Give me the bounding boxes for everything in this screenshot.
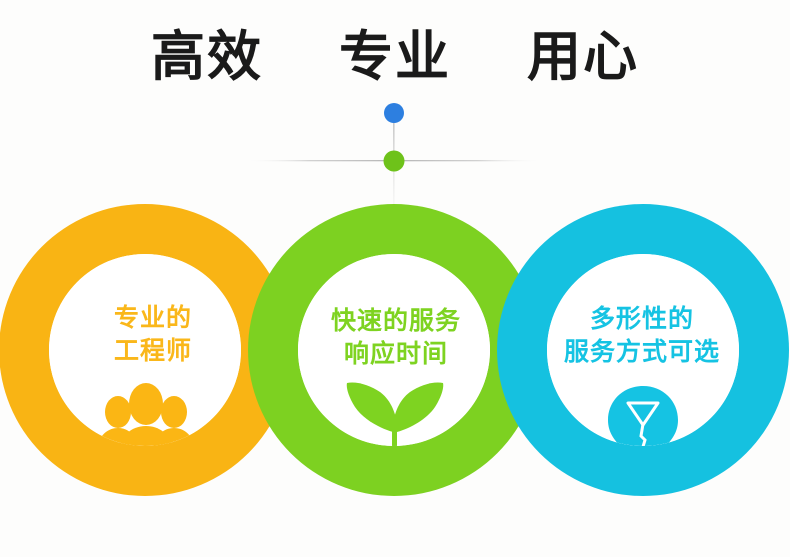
caption-engineers: 专业的 工程师: [58, 302, 248, 368]
venn-diagram: [0, 0, 790, 557]
caption-engineers-line-1: 专业的: [58, 302, 248, 335]
caption-engineers-line-2: 工程师: [58, 335, 248, 368]
caption-service-line-2: 服务方式可选: [534, 336, 750, 369]
caption-service: 多形性的 服务方式可选: [534, 303, 750, 369]
caption-service-line-1: 多形性的: [534, 303, 750, 336]
infographic-canvas: 高效 专业 用心: [0, 0, 790, 557]
caption-response-line-2: 响应时间: [298, 338, 494, 371]
caption-response-line-1: 快速的服务: [298, 305, 494, 338]
caption-response: 快速的服务 响应时间: [298, 305, 494, 371]
